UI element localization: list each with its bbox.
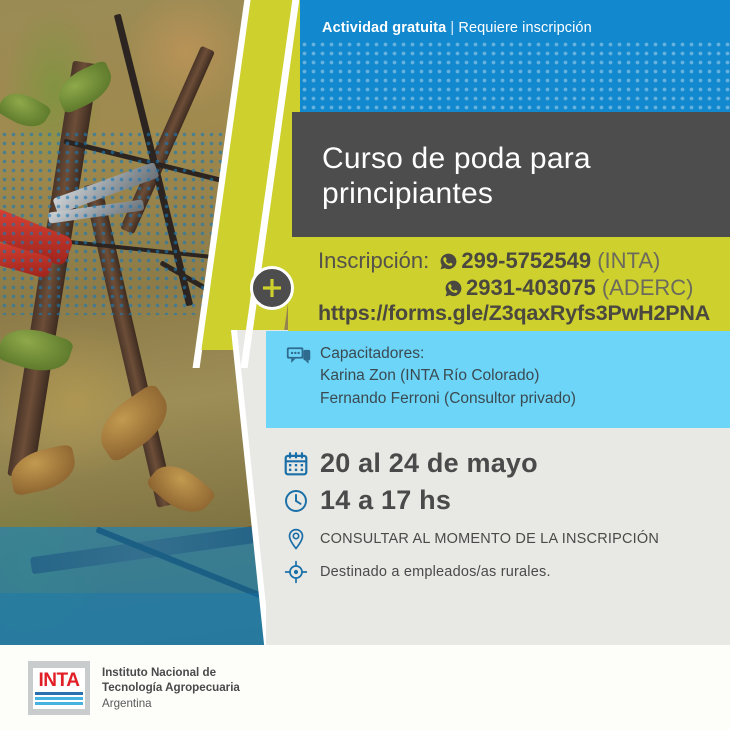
inta-bar-1 — [35, 692, 83, 695]
trainers-heading: Capacitadores: — [320, 343, 576, 365]
title-block: Curso de poda para principiantes — [292, 112, 730, 237]
trainers-text: Capacitadores: Karina Zon (INTA Río Colo… — [320, 343, 576, 410]
inta-mark: INTA — [28, 661, 90, 715]
whatsapp-icon — [444, 278, 463, 297]
title-line-1: Curso de poda para — [322, 141, 591, 176]
detail-date-text: 20 al 24 de mayo — [320, 448, 538, 479]
inscription-block: Inscripción: 299-5752549 (INTA) 2931-403… — [288, 237, 730, 331]
poster: Actividad gratuita | Requiere inscripció… — [0, 0, 730, 730]
inta-mark-inner: INTA — [33, 668, 85, 709]
inta-bars — [35, 692, 83, 705]
detail-row-audience: Destinado a empleados/as rurales. — [282, 558, 551, 586]
inta-bar-2 — [35, 697, 83, 700]
detail-time-text: 14 a 17 hs — [320, 485, 451, 516]
target-icon — [282, 558, 310, 586]
free-activity-label: Actividad gratuita — [322, 20, 446, 36]
blue-tint-band-lower — [0, 593, 300, 645]
detail-row-date: 20 al 24 de mayo — [282, 448, 538, 479]
registration-note: Requiere inscripción — [458, 20, 591, 36]
header-separator: | — [446, 20, 458, 36]
detail-row-time: 14 a 17 hs — [282, 485, 451, 516]
map-pin-icon — [282, 525, 310, 553]
clock-icon — [282, 487, 310, 515]
detail-location-text: CONSULTAR AL MOMENTO DE LA INSCRIPCIÓN — [320, 531, 659, 547]
inscription-org-2: (ADERC) — [602, 275, 694, 300]
inscription-form-url[interactable]: https://forms.gle/Z3qaxRyfs3PwH2PNA — [318, 301, 710, 326]
inta-wordmark: INTA — [35, 671, 83, 690]
inta-bar-3 — [35, 702, 83, 705]
plus-icon — [260, 276, 284, 300]
inta-logo: INTA Instituto Nacional de Tecnología Ag… — [28, 661, 240, 715]
trainer-1: Karina Zon (INTA Río Colorado) — [320, 365, 576, 387]
inscription-phone-1: 299-5752549 — [461, 248, 591, 273]
header-dot-pattern — [300, 40, 730, 112]
inscription-line-1: Inscripción: 299-5752549 (INTA) — [318, 248, 660, 274]
trainers-block: Capacitadores: Karina Zon (INTA Río Colo… — [266, 331, 730, 428]
trainer-2: Fernando Ferroni (Consultor privado) — [320, 388, 576, 410]
inta-line-2: Tecnología Agropecuaria — [102, 680, 240, 695]
inscription-label: Inscripción: — [318, 248, 429, 273]
inscription-line-2: 2931-403075 (ADERC) — [440, 275, 693, 301]
inscription-org-1: (INTA) — [597, 248, 660, 273]
detail-audience-text: Destinado a empleados/as rurales. — [320, 564, 551, 580]
whatsapp-icon — [439, 251, 458, 270]
details-panel: 20 al 24 de mayo 14 a 17 hs CONSULTAR AL… — [266, 428, 730, 645]
calendar-icon — [282, 450, 310, 478]
chat-bubble-icon — [286, 345, 312, 367]
inta-line-1: Instituto Nacional de — [102, 665, 240, 680]
title-line-2: principiantes — [322, 176, 591, 211]
inta-name-text: Instituto Nacional de Tecnología Agropec… — [102, 665, 240, 711]
inta-line-3: Argentina — [102, 696, 240, 711]
plus-badge[interactable] — [250, 266, 294, 310]
header-text: Actividad gratuita | Requiere inscripció… — [322, 20, 592, 36]
header-banner: Actividad gratuita | Requiere inscripció… — [300, 0, 730, 112]
footer-logos: INTA Instituto Nacional de Tecnología Ag… — [0, 645, 730, 730]
inscription-phone-2: 2931-403075 — [466, 275, 596, 300]
page-title: Curso de poda para principiantes — [322, 141, 591, 212]
detail-row-location: CONSULTAR AL MOMENTO DE LA INSCRIPCIÓN — [282, 525, 659, 553]
